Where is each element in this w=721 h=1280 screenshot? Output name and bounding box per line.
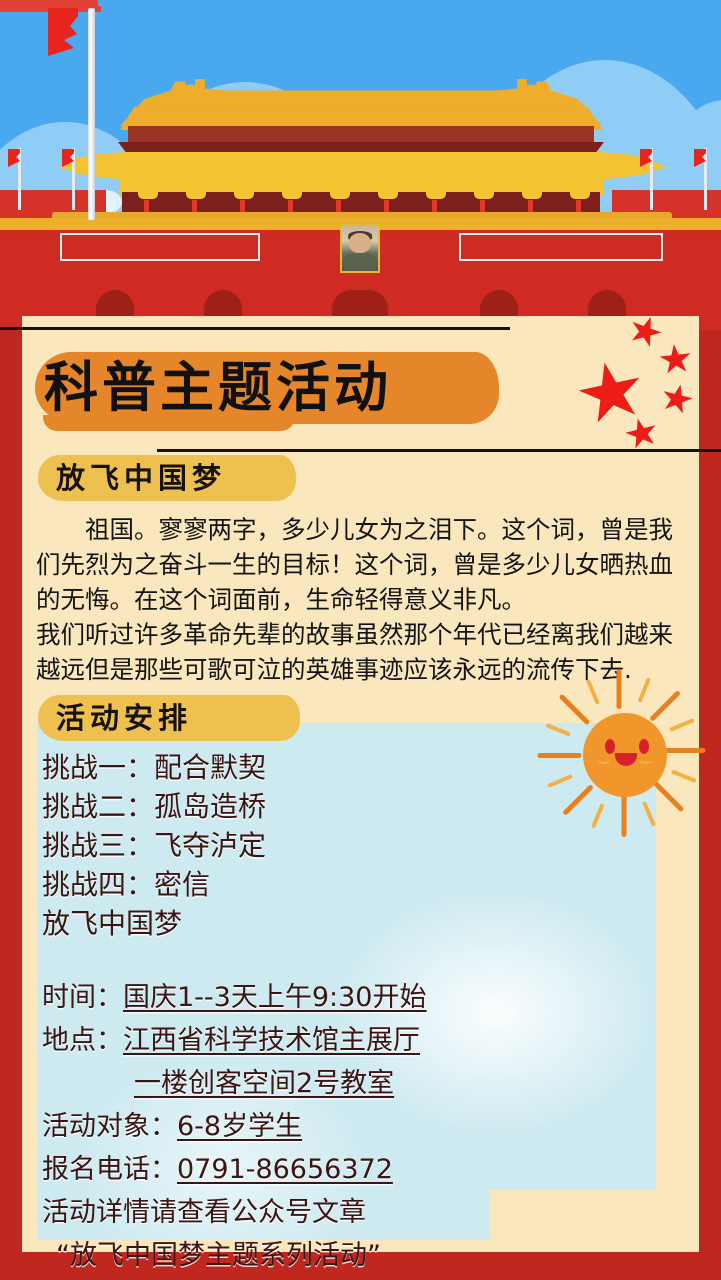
phone-value[interactable]: 0791-86656372: [177, 1154, 393, 1185]
tiananmen-gate: [0, 0, 721, 330]
list-item: 挑战二：孤岛造桥: [42, 787, 542, 826]
star-icon: [623, 415, 661, 453]
footer-note-1: 活动详情请查看公众号文章: [42, 1191, 602, 1234]
national-flag-icon: [688, 148, 708, 169]
star-icon: [659, 381, 695, 417]
smiling-sun-icon: [529, 663, 709, 843]
left-placard: [60, 233, 260, 261]
schedule-list: 挑战一：配合默契 挑战二：孤岛造桥 挑战三：飞夺泸定 挑战四：密信 放飞中国梦: [42, 748, 542, 943]
right-placard: [459, 233, 663, 261]
page-title: 科普主题活动: [44, 355, 504, 421]
intro-paragraphs: 祖国。寥寥两字，多少儿女为之泪下。这个词，曾是我们先烈为之奋斗一生的目标！这个词…: [36, 512, 686, 687]
time-label: 时间：: [42, 982, 123, 1013]
detail-place: 地点：江西省科学技术馆主展厅: [42, 1019, 602, 1062]
national-flag-icon: [634, 148, 654, 169]
detail-audience: 活动对象：6-8岁学生: [42, 1105, 602, 1148]
star-icon: [626, 312, 666, 352]
national-flag-icon: [56, 148, 76, 169]
star-icon: [574, 356, 648, 430]
poster-root: 科普主题活动 放飞中国梦 祖国。寥寥两字，多少儿女为之泪下。这个词，曾是我们先烈…: [0, 0, 721, 1280]
paragraph: 祖国。寥寥两字，多少儿女为之泪下。这个词，曾是我们先烈为之奋斗一生的目标！这个词…: [36, 512, 686, 617]
detail-place-line2: 一楼创客空间2号教室: [42, 1062, 602, 1105]
phone-label: 报名电话：: [42, 1154, 177, 1185]
audience-label: 活动对象：: [42, 1111, 177, 1142]
upper-eave: [128, 126, 594, 144]
footer-note-2: “放飞中国梦主题系列活动”: [42, 1234, 602, 1277]
star-icon: [658, 342, 692, 376]
time-value: 国庆1--3天上午9:30开始: [123, 982, 426, 1013]
lower-roof-body: [120, 158, 604, 196]
detail-phone: 报名电话：0791-86656372: [42, 1148, 602, 1191]
event-details: 时间：国庆1--3天上午9:30开始 地点：江西省科学技术馆主展厅 一楼创客空间…: [42, 976, 602, 1277]
chairman-portrait: [340, 224, 380, 273]
divider-top: [0, 327, 510, 330]
list-item: 放飞中国梦: [42, 904, 542, 943]
list-item: 挑战三：飞夺泸定: [42, 826, 542, 865]
national-flag-icon: [2, 148, 22, 169]
section-heading-1: 放飞中国梦: [56, 455, 226, 501]
list-item: 挑战一：配合默契: [42, 748, 542, 787]
flag-stars-decoration: [572, 318, 702, 458]
place-value: 江西省科学技术馆主展厅: [123, 1025, 420, 1056]
detail-time: 时间：国庆1--3天上午9:30开始: [42, 976, 602, 1019]
section-heading-2: 活动安排: [56, 695, 192, 741]
divider-mid: [157, 449, 721, 452]
national-flag-icon: [46, 6, 94, 58]
place-label: 地点：: [42, 1025, 123, 1056]
hero-illustration: [0, 0, 721, 330]
place-value-2: 一楼创客空间2号教室: [134, 1068, 394, 1099]
list-item: 挑战四：密信: [42, 865, 542, 904]
audience-value: 6-8岁学生: [177, 1111, 302, 1142]
